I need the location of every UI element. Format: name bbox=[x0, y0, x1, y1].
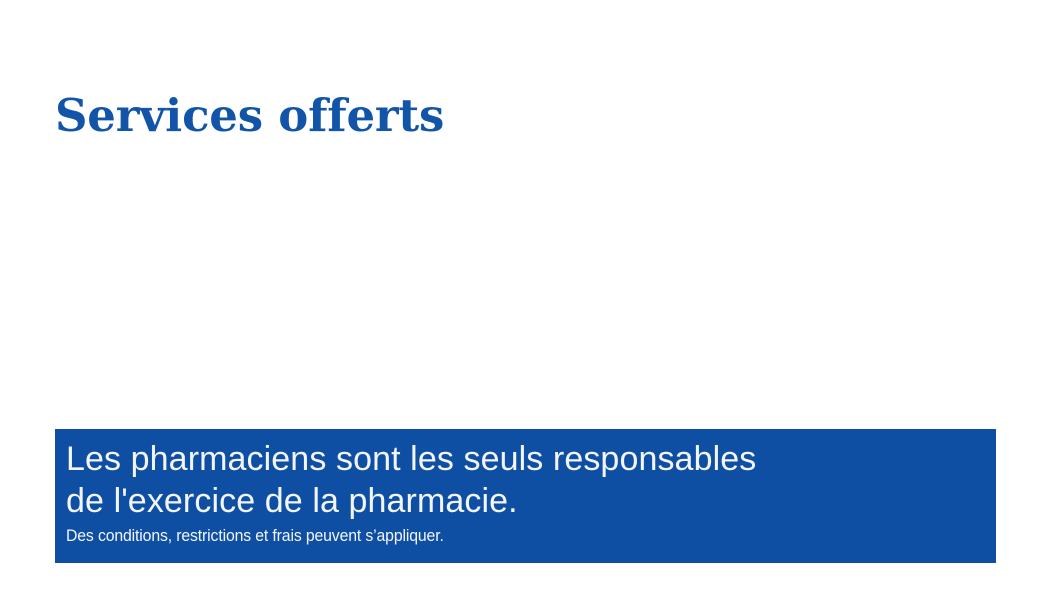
banner-headline: Les pharmaciens sont les seuls responsab… bbox=[66, 438, 984, 522]
banner-headline-line-2: de l'exercice de la pharmacie. bbox=[66, 480, 984, 522]
slide-content-area bbox=[55, 135, 996, 420]
notice-banner: Les pharmaciens sont les seuls responsab… bbox=[55, 429, 996, 563]
banner-subnote: Des conditions, restrictions et frais pe… bbox=[66, 524, 920, 548]
presentation-slide: Services offerts Les pharmaciens sont le… bbox=[0, 0, 1050, 600]
banner-headline-line-1: Les pharmaciens sont les seuls responsab… bbox=[66, 438, 984, 480]
